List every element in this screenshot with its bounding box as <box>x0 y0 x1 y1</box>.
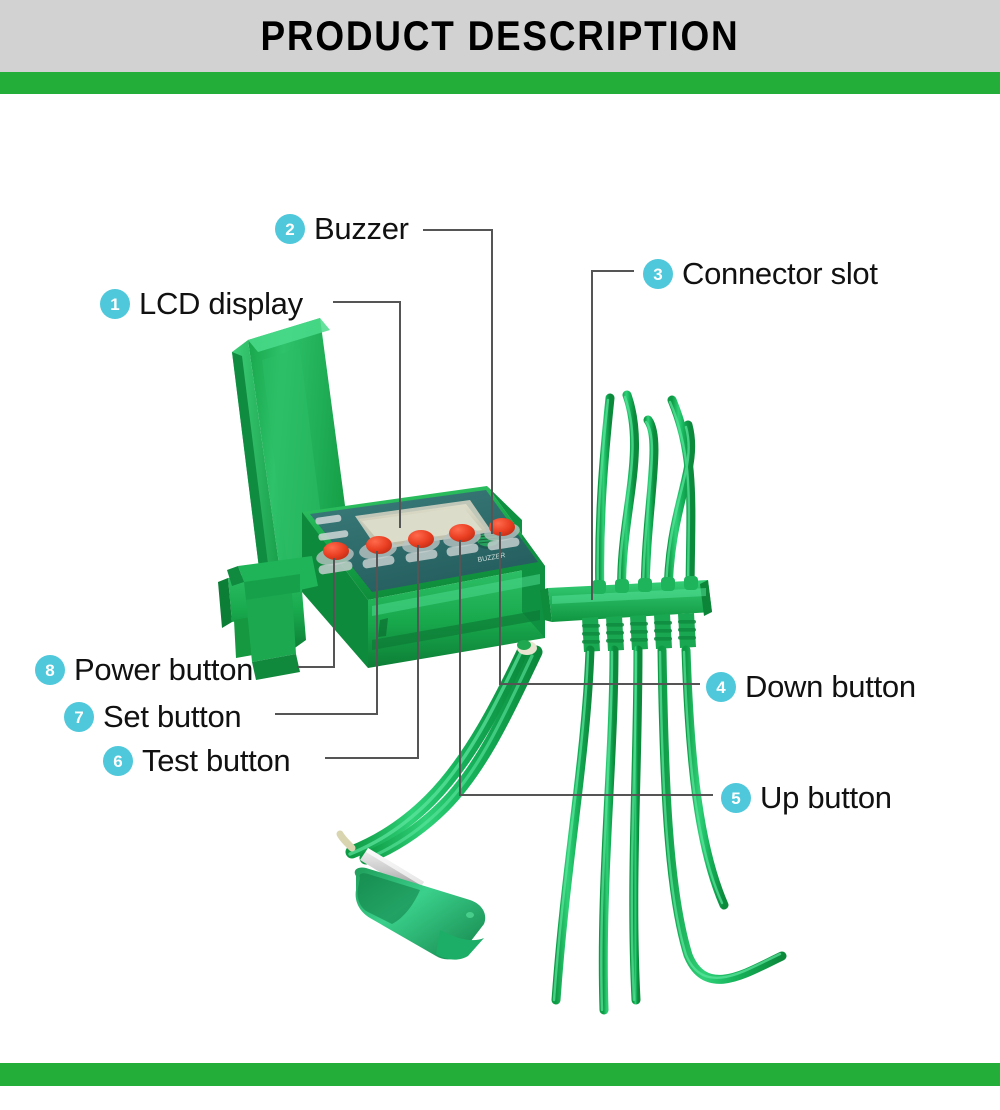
callout-label-7: Set button <box>103 699 241 735</box>
power-button[interactable] <box>323 542 349 560</box>
product-description-page: PRODUCT DESCRIPTION <box>0 0 1000 1110</box>
callout-label-4: Down button <box>745 669 916 705</box>
callout-power-button[interactable]: 8 Power button <box>35 652 253 688</box>
down-button[interactable] <box>489 518 515 536</box>
callout-label-3: Connector slot <box>682 256 878 292</box>
up-button[interactable] <box>449 524 475 542</box>
product-illustration: BUZZER <box>0 0 1000 1110</box>
callout-connector-slot[interactable]: 3 Connector slot <box>643 256 878 292</box>
callout-set-button[interactable]: 7 Set button <box>64 699 241 735</box>
callout-label-8: Power button <box>74 652 253 688</box>
callout-label-1: LCD display <box>139 286 303 322</box>
callout-badge-2: 2 <box>275 214 305 244</box>
callout-test-button[interactable]: 6 Test button <box>103 743 290 779</box>
test-button[interactable] <box>408 530 434 548</box>
callout-label-5: Up button <box>760 780 892 816</box>
callout-label-6: Test button <box>142 743 290 779</box>
callout-buzzer[interactable]: 2 Buzzer <box>275 211 409 247</box>
callout-badge-7: 7 <box>64 702 94 732</box>
callout-badge-5: 5 <box>721 783 751 813</box>
callout-lcd-display[interactable]: 1 LCD display <box>100 286 303 322</box>
callout-badge-1: 1 <box>100 289 130 319</box>
callout-badge-3: 3 <box>643 259 673 289</box>
callout-badge-8: 8 <box>35 655 65 685</box>
callout-down-button[interactable]: 4 Down button <box>706 669 916 705</box>
callout-badge-4: 4 <box>706 672 736 702</box>
set-button[interactable] <box>366 536 392 554</box>
callout-label-2: Buzzer <box>314 211 409 247</box>
callout-badge-6: 6 <box>103 746 133 776</box>
probe-cable <box>350 640 537 860</box>
callout-up-button[interactable]: 5 Up button <box>721 780 892 816</box>
